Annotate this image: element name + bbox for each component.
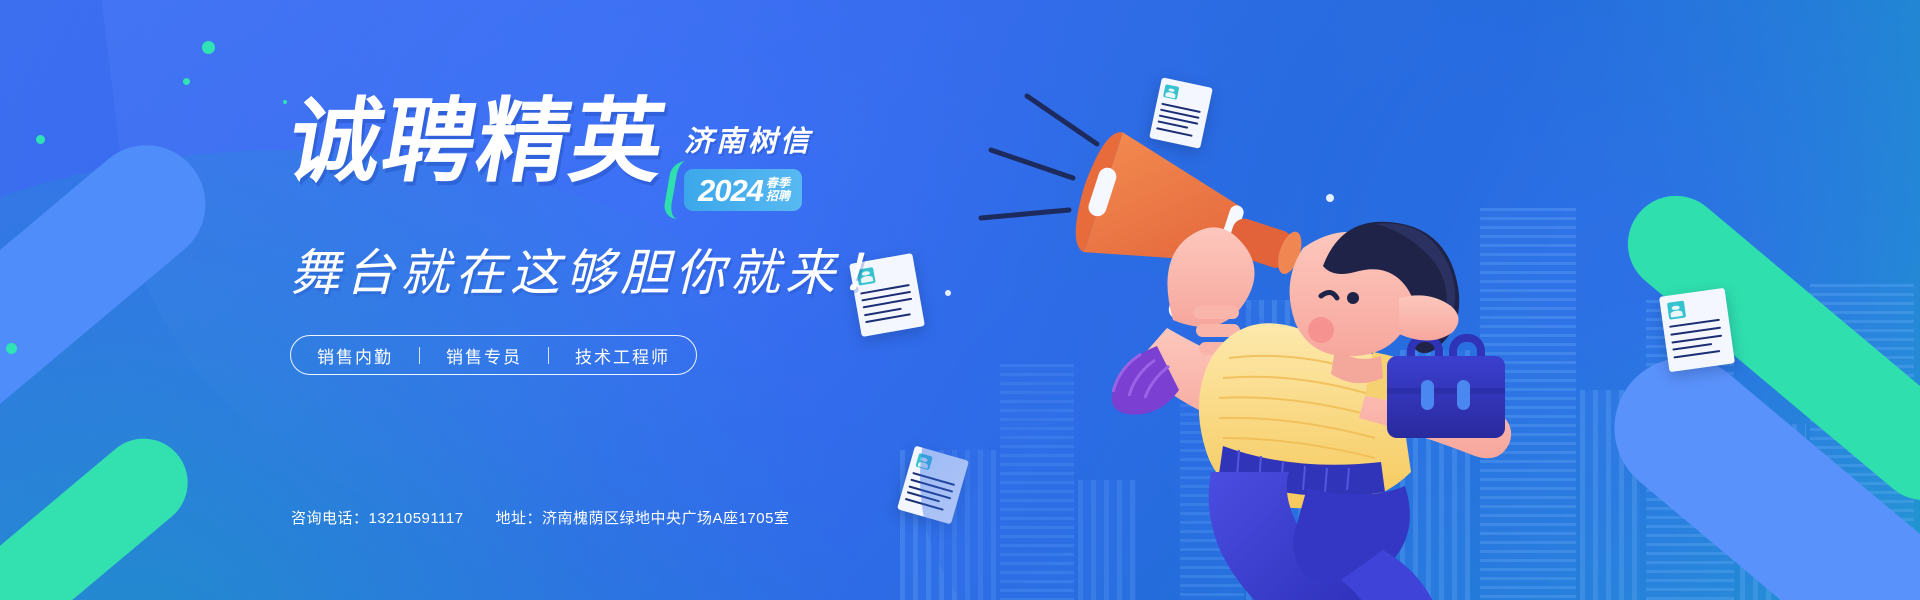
badge-season: 春季 招聘 [766,177,790,202]
decor-dot [36,135,45,144]
headline-row: 诚聘精英 济南树信 2024 春季 招聘 [290,96,1070,211]
resume-paper-icon [1659,288,1735,372]
job-tag[interactable]: 销售专员 [446,343,522,368]
decor-dot [202,41,215,54]
brand-block: 济南树信 2024 春季 招聘 [684,96,812,211]
job-tag[interactable]: 销售内勤 [317,343,393,368]
year-badge: 2024 春季 招聘 [684,169,802,211]
decor-dot [6,343,17,354]
tag-divider [548,347,549,364]
brand-name: 济南树信 [684,118,812,160]
badge-season-line2: 招聘 [766,190,790,203]
page-title: 诚聘精英 [282,96,674,188]
contact-address: 地址：济南槐荫区绿地中央广场A座1705室 [496,507,790,528]
contact-info: 咨询电话：13210591117 地址：济南槐荫区绿地中央广场A座1705室 [291,507,789,528]
contact-phone: 咨询电话：13210591117 [291,507,464,528]
job-tags: 销售内勤 销售专员 技术工程师 [290,335,697,375]
badge-year: 2024 [698,175,763,206]
recruitment-banner: 诚聘精英 济南树信 2024 春季 招聘 舞台就在这够胆你就来！ 销售内勤 销售… [0,0,1920,600]
banner-copy: 诚聘精英 济南树信 2024 春季 招聘 舞台就在这够胆你就来！ 销售内勤 销售… [290,96,1070,375]
tag-divider [419,347,420,364]
subtitle: 舞台就在这够胆你就来！ [290,233,1070,305]
decor-dot [183,78,190,85]
decor-dot [283,100,287,104]
badge-hook-accent [662,161,698,219]
job-tag[interactable]: 技术工程师 [575,343,670,368]
